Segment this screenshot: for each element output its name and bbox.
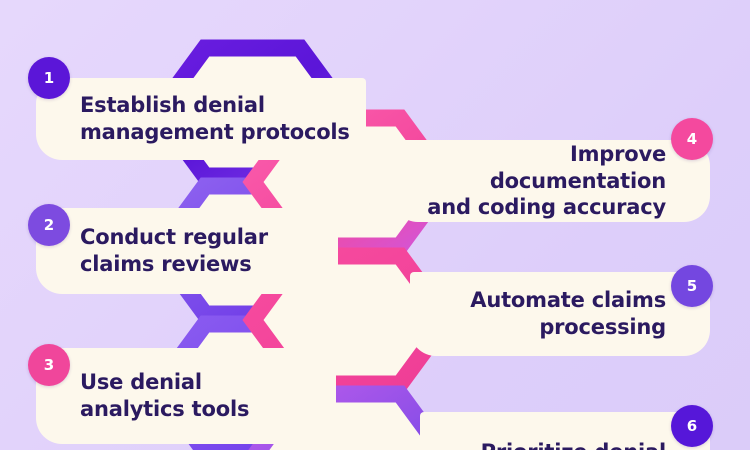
step-card-4-label: Improve documentation and coding accurac… (408, 141, 666, 222)
step-card-1-label: Establish denial management protocols (80, 92, 350, 146)
step-badge-2-number: 2 (44, 216, 54, 234)
step-badge-3[interactable]: 3 (28, 344, 70, 386)
step-card-6-label: Prioritize denial (481, 439, 666, 450)
step-badge-5[interactable]: 5 (671, 265, 713, 307)
infographic-canvas: Establish denial management protocols Co… (0, 0, 750, 450)
step-badge-6-number: 6 (687, 417, 697, 435)
step-card-2-label: Conduct regular claims reviews (80, 224, 268, 278)
step-card-5[interactable]: Automate claims processing (410, 272, 710, 356)
step-badge-3-number: 3 (44, 356, 54, 374)
step-badge-2[interactable]: 2 (28, 204, 70, 246)
step-card-3[interactable]: Use denial analytics tools (36, 348, 336, 444)
step-card-6[interactable]: Prioritize denial (420, 412, 710, 450)
step-badge-1[interactable]: 1 (28, 57, 70, 99)
step-badge-4[interactable]: 4 (671, 118, 713, 160)
step-badge-4-number: 4 (687, 130, 697, 148)
step-card-2[interactable]: Conduct regular claims reviews (36, 208, 338, 294)
step-card-3-label: Use denial analytics tools (80, 369, 249, 423)
step-badge-6[interactable]: 6 (671, 405, 713, 447)
step-badge-1-number: 1 (44, 69, 54, 87)
step-card-4[interactable]: Improve documentation and coding accurac… (392, 140, 710, 222)
step-badge-5-number: 5 (687, 277, 697, 295)
step-card-5-label: Automate claims processing (470, 287, 666, 341)
step-card-1[interactable]: Establish denial management protocols (36, 78, 366, 160)
